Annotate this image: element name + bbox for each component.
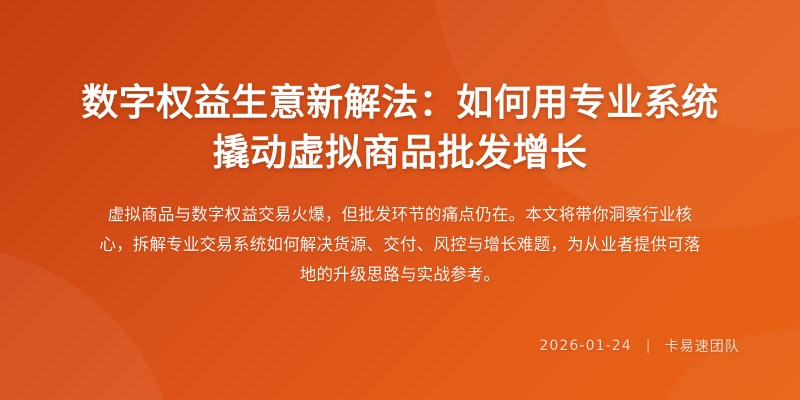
meta-separator: | (646, 338, 651, 354)
poster-footer: 2026-01-24 | 卡易速团队 (34, 336, 766, 356)
page-title: 数字权益生意新解法：如何用专业系统 撬动虚拟商品批发增长 (34, 78, 766, 178)
summary-line-3: 地的升级思路与实战参考。 (99, 260, 700, 290)
summary-line-2: 心，拆解专业交易系统如何解决货源、交付、风控与增长难题，为从业者提供可落 (99, 230, 700, 260)
poster-content: 数字权益生意新解法：如何用专业系统 撬动虚拟商品批发增长 虚拟商品与数字权益交易… (0, 0, 800, 400)
author-name: 卡易速团队 (665, 336, 741, 356)
publish-date: 2026-01-24 (539, 338, 631, 354)
summary-paragraph: 虚拟商品与数字权益交易火爆，但批发环节的痛点仍在。本文将带你洞察行业核 心，拆解… (99, 200, 700, 290)
title-line-2: 撬动虚拟商品批发增长 (34, 128, 766, 178)
poster-banner: 数字权益生意新解法：如何用专业系统 撬动虚拟商品批发增长 虚拟商品与数字权益交易… (0, 0, 800, 400)
summary-line-1: 虚拟商品与数字权益交易火爆，但批发环节的痛点仍在。本文将带你洞察行业核 (99, 200, 700, 230)
title-line-1: 数字权益生意新解法：如何用专业系统 (34, 78, 766, 128)
